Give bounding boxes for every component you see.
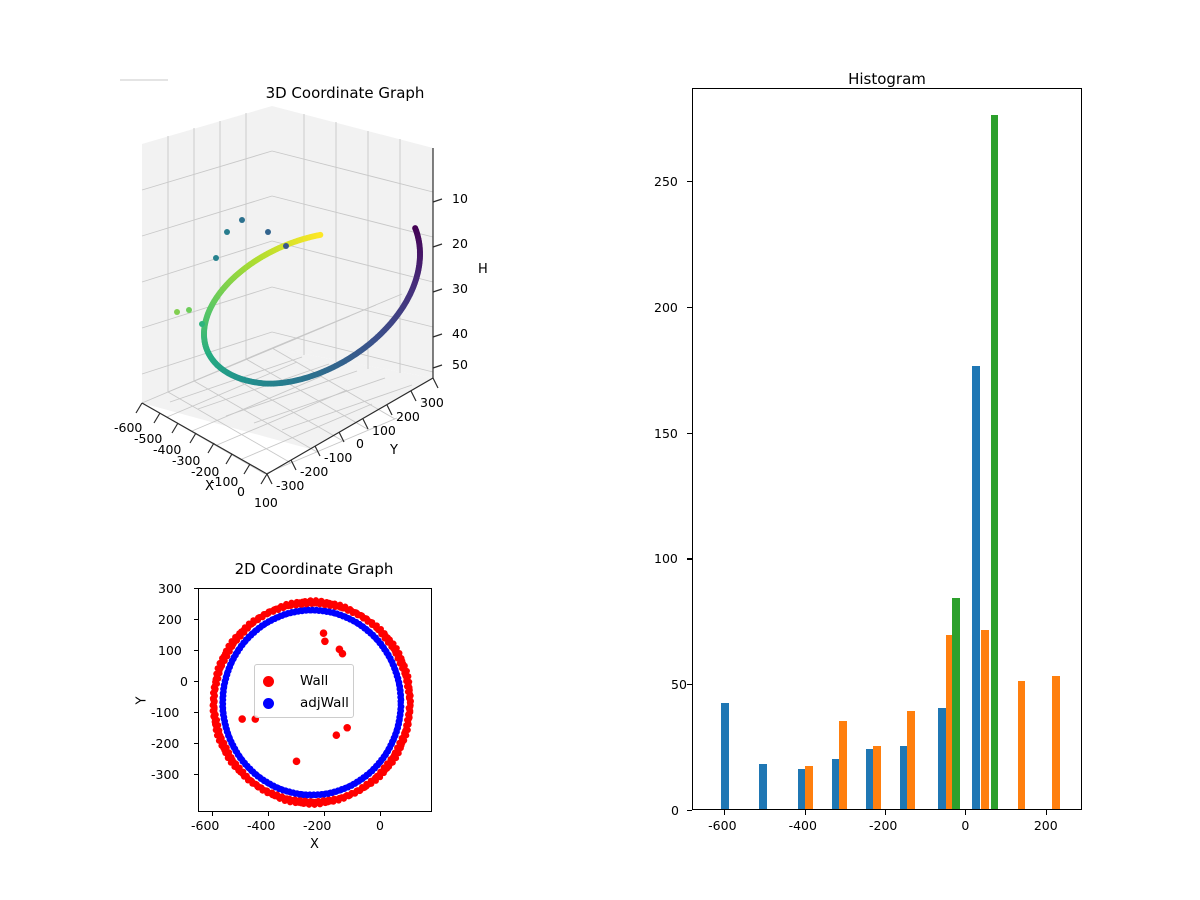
histogram-bar <box>991 115 999 809</box>
scatter3d-point <box>317 232 323 238</box>
plot2d-ytick-1: 200 <box>158 612 182 627</box>
plot2d-ytick-mark-4 <box>194 712 198 713</box>
histogram-bar <box>721 703 729 809</box>
plot2d-ytick-mark-1 <box>194 619 198 620</box>
panel-histogram: Histogram 050100150200250 -600-400-20002… <box>640 60 1100 860</box>
plot3d-xlabel: X <box>205 479 214 494</box>
matplotlib-figure: 3D Coordinate Graph <box>0 0 1200 900</box>
legend-item-wall[interactable]: Wall <box>263 673 328 689</box>
histogram-xtick-label: -600 <box>708 818 736 833</box>
histogram-bar <box>873 746 881 809</box>
plot3d-ztick-4: 50 <box>452 357 468 372</box>
histogram-bar <box>972 366 980 809</box>
panel-2d-coordinate-graph: 2D Coordinate Graph 300 200 100 0 -100 -… <box>150 560 490 860</box>
scatter3d-point <box>224 229 230 235</box>
plot2d-xtick-3: 0 <box>376 818 384 833</box>
scatter3d-point <box>213 255 219 261</box>
histogram-ytick-label: 150 <box>654 426 678 441</box>
plot3d-ztick-3: 40 <box>452 326 468 341</box>
scatter-point <box>333 731 341 739</box>
plot3d-ytick-3: 0 <box>356 436 364 451</box>
plot2d-legend[interactable]: Wall adjWall <box>254 664 354 718</box>
histogram-ytick-mark <box>687 684 692 685</box>
scatter-point <box>339 650 347 658</box>
histogram-bar <box>981 630 989 809</box>
plot2d-ylabel: Y <box>134 697 149 705</box>
scatter-point <box>343 724 351 732</box>
plot3d-ztick-1: 20 <box>452 236 468 251</box>
histogram-title: Histogram <box>692 70 1082 88</box>
histogram-axes <box>692 88 1082 810</box>
histogram-bar <box>805 766 813 809</box>
histogram-ytick-label: 100 <box>654 551 678 566</box>
plot3d-ylabel: Y <box>390 443 398 458</box>
legend-label-adjwall: adjWall <box>300 695 349 711</box>
histogram-bar <box>839 721 847 809</box>
scatter3d-point <box>174 309 180 315</box>
legend-swatch-adjwall <box>263 698 274 709</box>
plot2d-ytick-2: 100 <box>158 643 182 658</box>
scatter3d-point <box>199 321 205 327</box>
legend-label-wall: Wall <box>300 673 328 689</box>
scatter-point <box>238 715 246 723</box>
panel-3d-coordinate-graph: 3D Coordinate Graph <box>120 80 570 520</box>
plot3d-xtick-6: 0 <box>237 484 245 499</box>
histogram-xtick-mark <box>805 810 806 815</box>
legend-item-adjwall[interactable]: adjWall <box>263 695 349 711</box>
histogram-ytick-mark <box>687 307 692 308</box>
plot2d-ytick-mark-0 <box>194 588 198 589</box>
plot3d-ytick-4: 100 <box>372 423 396 438</box>
histogram-ytick-label: 250 <box>654 174 678 189</box>
plot2d-xtick-mark-0 <box>212 812 213 816</box>
plot2d-xtick-1: -400 <box>247 818 275 833</box>
histogram-bar <box>1052 676 1060 809</box>
plot2d-ytick-4: -100 <box>151 705 179 720</box>
histogram-ytick-label: 200 <box>654 300 678 315</box>
plot2d-xtick-mark-3 <box>380 812 381 816</box>
plot3d-zlabel: H <box>478 262 488 277</box>
histogram-xtick-mark <box>965 810 966 815</box>
scatter3d-point <box>239 217 245 223</box>
plot3d-ytick-6: 300 <box>420 395 444 410</box>
plot2d-xlabel: X <box>310 837 319 852</box>
histogram-xtick-label: -200 <box>869 818 897 833</box>
plot2d-xtick-0: -600 <box>191 818 219 833</box>
histogram-ytick-mark <box>687 181 692 182</box>
histogram-bar <box>952 598 960 809</box>
plot3d-xtick-5: -100 <box>210 474 238 489</box>
plot3d-ytick-5: 200 <box>396 409 420 424</box>
histogram-xtick-mark <box>724 810 725 815</box>
plot3d-ytick-1: -200 <box>300 464 328 479</box>
histogram-xtick-label: -400 <box>789 818 817 833</box>
histogram-xtick-mark <box>1046 810 1047 815</box>
histogram-ytick-label: 0 <box>671 803 679 818</box>
histogram-ytick-mark <box>687 810 692 811</box>
scatter-point <box>293 758 301 766</box>
plot2d-title: 2D Coordinate Graph <box>144 560 484 578</box>
plot3d-xtick-7: 100 <box>254 495 278 510</box>
plot3d-ztick-2: 30 <box>452 281 468 296</box>
scatter3d-point <box>283 243 289 249</box>
histogram-ytick-mark <box>687 433 692 434</box>
scatter-point <box>320 629 328 637</box>
plot3d-ytick-0: -300 <box>276 478 304 493</box>
histogram-xtick-label: 200 <box>1034 818 1058 833</box>
histogram-ytick-mark <box>687 558 692 559</box>
histogram-xtick-mark <box>885 810 886 815</box>
scatter3d-point <box>186 307 192 313</box>
plot3d-ytick-2: -100 <box>324 450 352 465</box>
plot2d-ytick-5: -200 <box>151 736 179 751</box>
scatter-point <box>321 637 329 645</box>
plot2d-ytick-mark-2 <box>194 650 198 651</box>
plot2d-xtick-mark-1 <box>268 812 269 816</box>
plot2d-xtick-2: -200 <box>303 818 331 833</box>
plot2d-ytick-6: -300 <box>151 767 179 782</box>
plot2d-ytick-mark-5 <box>194 743 198 744</box>
legend-swatch-wall <box>263 676 274 687</box>
plot2d-xtick-mark-2 <box>324 812 325 816</box>
histogram-bar <box>1018 681 1026 809</box>
histogram-bar <box>759 764 767 809</box>
plot2d-ytick-mark-3 <box>194 681 198 682</box>
plot2d-ytick-mark-6 <box>194 774 198 775</box>
histogram-xtick-label: 0 <box>961 818 969 833</box>
scatter3d-point <box>265 229 271 235</box>
scatter-point <box>398 701 404 707</box>
plot3d-ztick-0: 10 <box>452 191 468 206</box>
histogram-ytick-label: 50 <box>671 677 687 692</box>
plot2d-ytick-3: 0 <box>180 674 188 689</box>
scatter-point <box>407 701 413 707</box>
plot2d-ytick-0: 300 <box>158 581 182 596</box>
histogram-bar <box>907 711 915 809</box>
